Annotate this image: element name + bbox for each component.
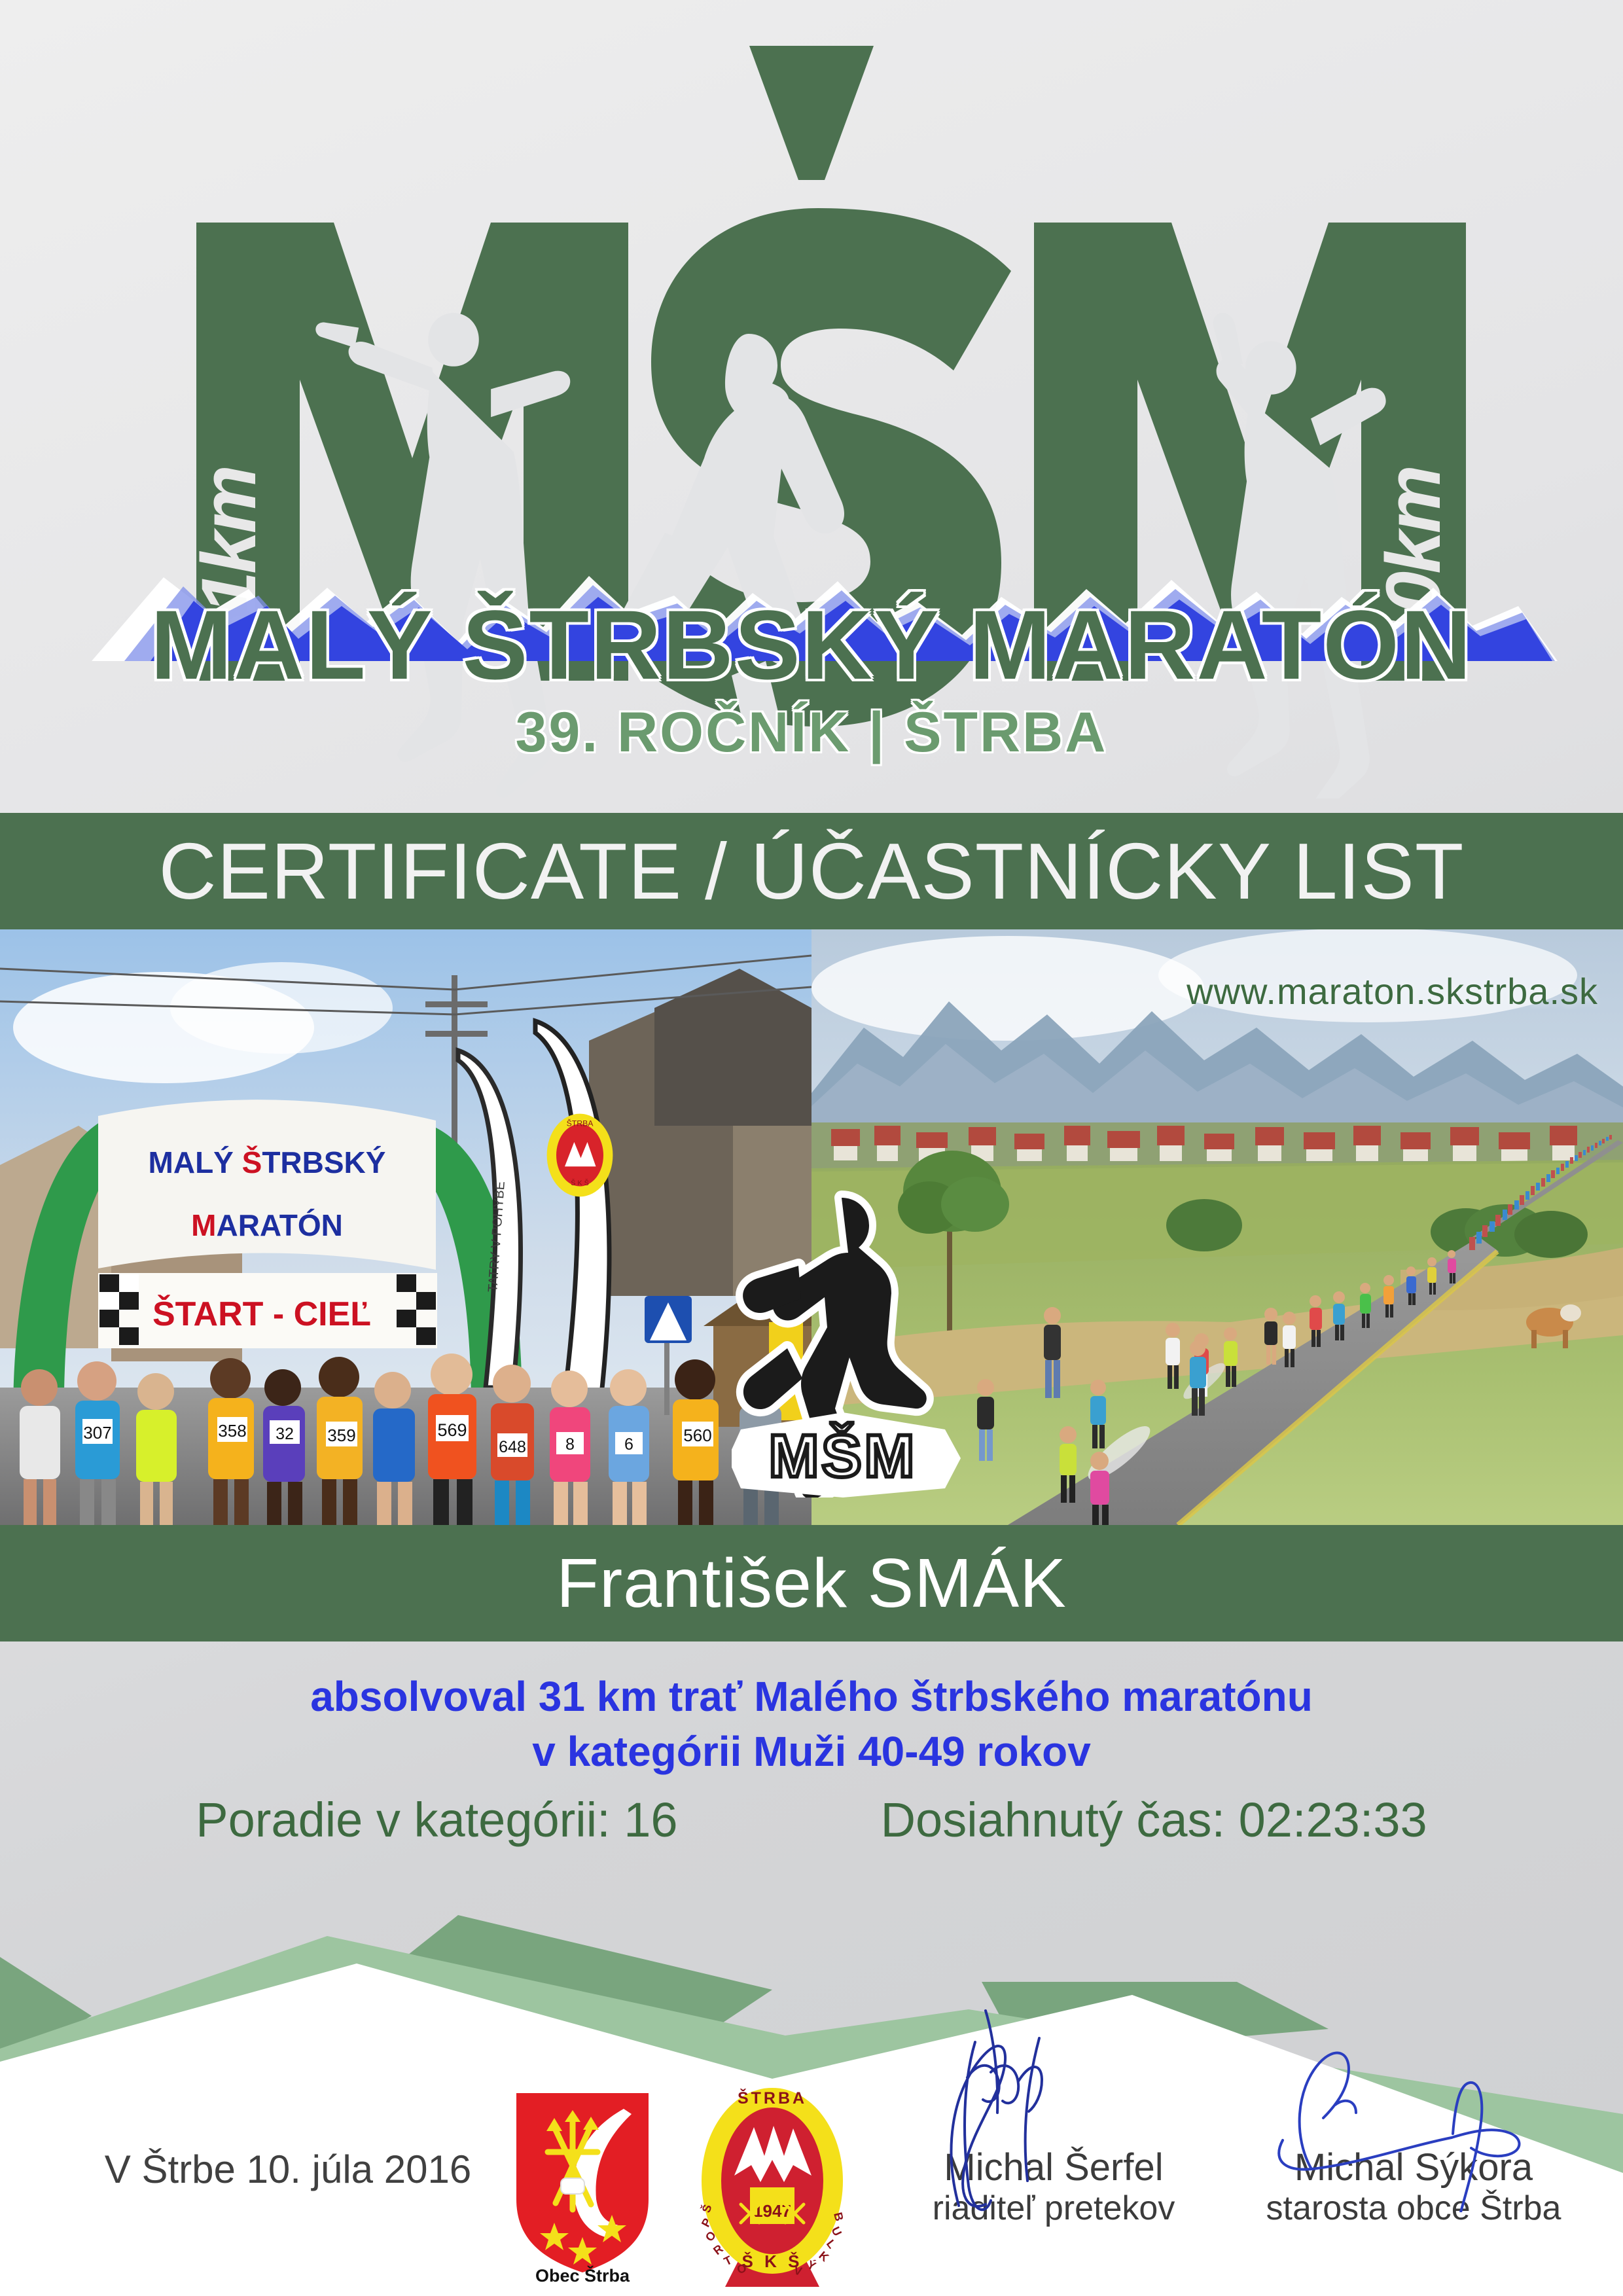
signature-2-svg <box>1230 1996 1597 2212</box>
crest-obec-strba: Obec Štrba <box>507 2088 658 2284</box>
bib-number: 8 <box>565 1435 575 1454</box>
header-logo-area: 31km 10km <box>0 0 1623 813</box>
certificate-page: 31km 10km <box>0 0 1623 2296</box>
arch-line3: ŠTART - CIEĽ <box>152 1295 371 1333</box>
event-title-wrap: MALÝ ŠTRBSKÝ MARATÓN 39. ROČNÍK | ŠTRBA <box>0 596 1623 761</box>
svg-text:K: K <box>816 2249 831 2265</box>
description-line-1: absolvoval 31 km trať Malého štrbského m… <box>0 1669 1623 1724</box>
svg-text:Š K Š: Š K Š <box>571 1179 589 1187</box>
time-label: Dosiahnutý čas: <box>881 1793 1226 1847</box>
event-title: MALÝ ŠTRBSKÝ MARATÓN <box>0 596 1623 694</box>
rank-stat: Poradie v kategórii: 16 <box>196 1792 677 1848</box>
bib-number: 307 <box>83 1423 111 1443</box>
bib-number: 32 <box>276 1425 294 1443</box>
crest-obec-svg: Obec Štrba <box>507 2088 658 2284</box>
website-url: www.maraton.skstrba.sk <box>1186 970 1598 1013</box>
signature-1-image <box>870 1996 1237 2147</box>
photo-road: www.maraton.skstrba.sk <box>811 929 1623 1525</box>
svg-text:ŠTRBA: ŠTRBA <box>567 1118 594 1128</box>
bib-number: 560 <box>683 1426 711 1445</box>
signature-2-image <box>1230 1996 1597 2147</box>
svg-text:MARATÓN: MARATÓN <box>191 1208 343 1242</box>
crest-sks-strba: 1947 ŠTRBA Š K Š Š P O R T O V Ý K <box>694 2083 851 2292</box>
arch-line1: MALÝ ŠTRBSKÝ <box>149 1145 386 1179</box>
bib-number: 648 <box>499 1438 526 1456</box>
result-stats: Poradie v kategórii: 16 Dosiahnutý čas: … <box>0 1792 1623 1848</box>
crest-sks-top: ŠTRBA <box>738 2088 807 2108</box>
description-line-2: v kategórii Muži 40-49 rokov <box>0 1724 1623 1779</box>
certificate-title: CERTIFICATE / ÚČASTNÍCKY LIST <box>0 813 1623 929</box>
time-value: 02:23:33 <box>1239 1793 1427 1847</box>
crest-sks-svg: 1947 ŠTRBA Š K Š Š P O R T O V Ý K <box>694 2083 851 2292</box>
bib-number: 359 <box>327 1426 355 1445</box>
rank-value: 16 <box>624 1793 677 1847</box>
signature-block-1: Michal Šerfel riaditeľ pretekov <box>870 1996 1237 2229</box>
photo-start-line: MALÝ ŠTRBSKÝ MARATÓN ŠTART - CIEĽ TATRY … <box>0 929 811 1525</box>
certificate-band: CERTIFICATE / ÚČASTNÍCKY LIST <box>0 813 1623 929</box>
issue-date: V Štrbe 10. júla 2016 <box>79 2147 497 2192</box>
crest-obec-label: Obec Štrba <box>535 2265 630 2284</box>
crest-sks-abbr: Š K Š <box>742 2251 803 2271</box>
result-area: absolvoval 31 km trať Malého štrbského m… <box>0 1641 1623 1923</box>
signature-1-svg <box>870 1996 1237 2212</box>
photo-road-svg <box>811 929 1623 1525</box>
bib-number: 358 <box>218 1421 246 1441</box>
participant-name-band: František SMÁK <box>0 1525 1623 1641</box>
photo-start-line-svg: MALÝ ŠTRBSKÝ MARATÓN ŠTART - CIEĽ TATRY … <box>0 929 811 1525</box>
signature-block-2: Michal Sýkora starosta obce Štrba <box>1230 1996 1597 2229</box>
time-stat: Dosiahnutý čas: 02:23:33 <box>881 1792 1427 1848</box>
bib-number: 569 <box>437 1420 467 1440</box>
participant-name: František SMÁK <box>556 1549 1067 1618</box>
rank-label: Poradie v kategórii: <box>196 1793 610 1847</box>
footer: V Štrbe 10. júla 2016 <box>0 2055 1623 2296</box>
participant-description: absolvoval 31 km trať Malého štrbského m… <box>0 1669 1623 1780</box>
bib-number: 6 <box>624 1435 633 1454</box>
photo-strip: MALÝ ŠTRBSKÝ MARATÓN ŠTART - CIEĽ TATRY … <box>0 929 1623 1525</box>
event-subtitle: 39. ROČNÍK | ŠTRBA <box>0 704 1623 761</box>
